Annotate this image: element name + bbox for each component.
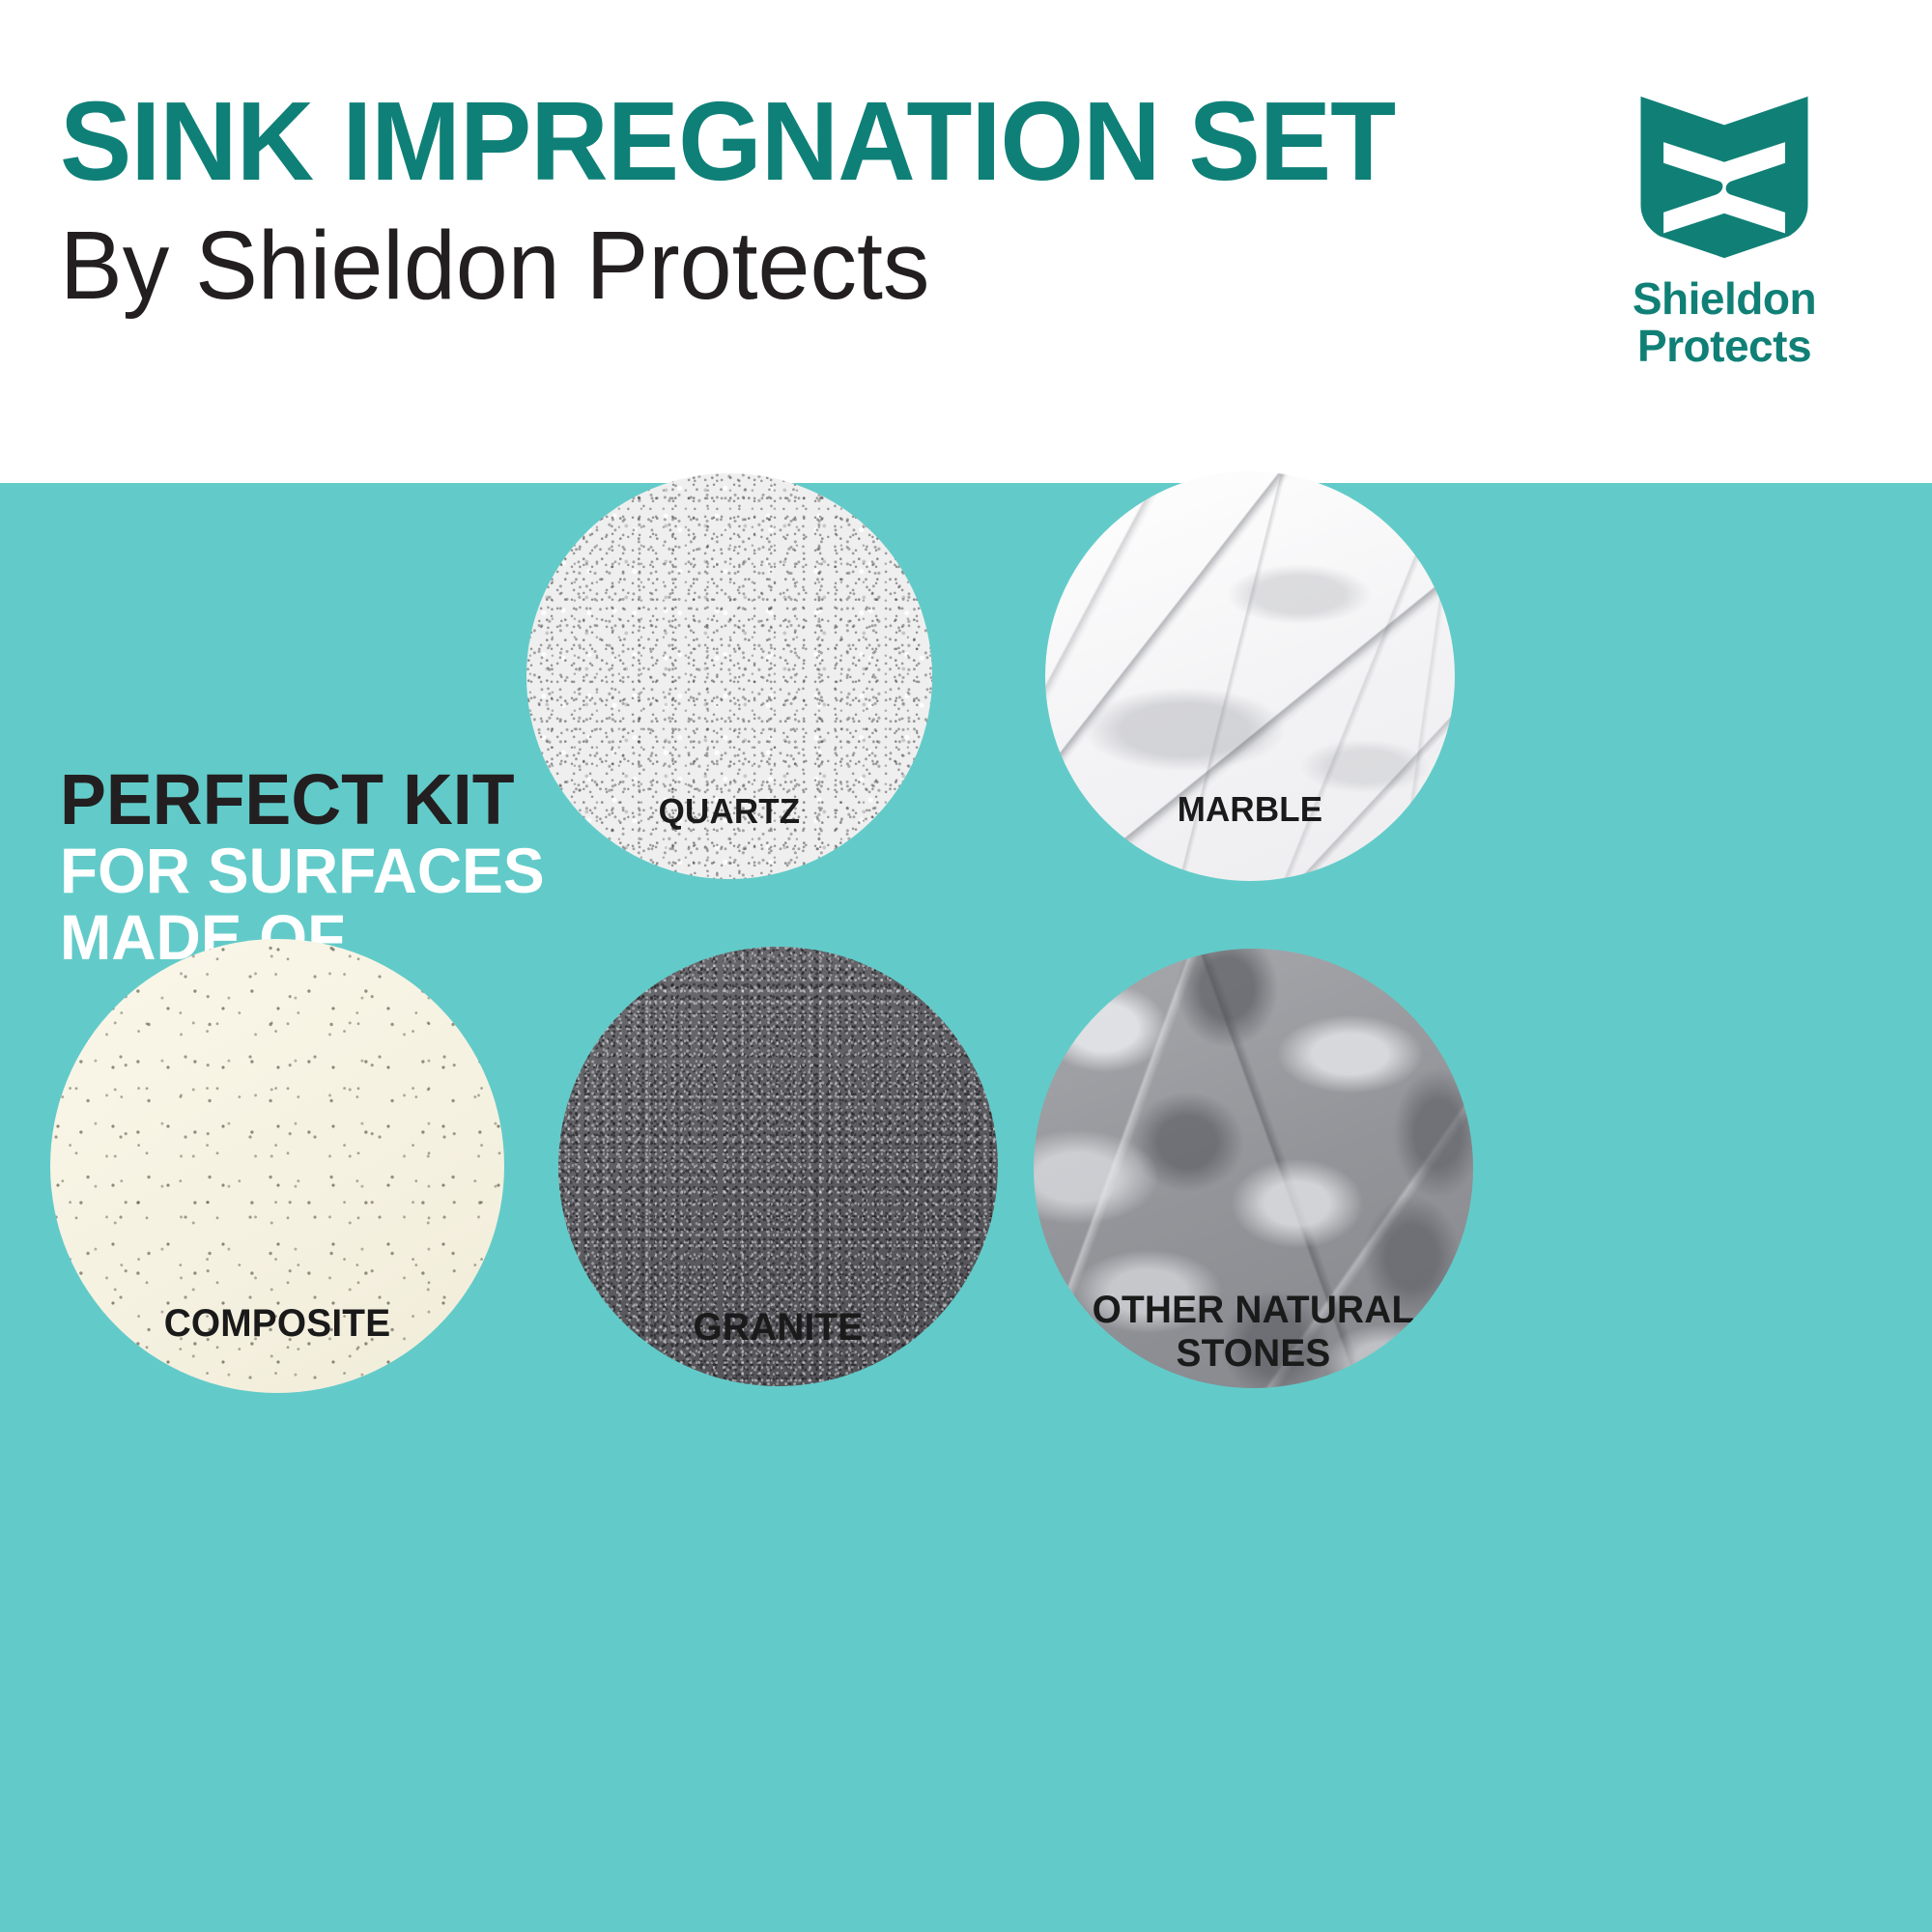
- surface-label-quartz: QUARTZ: [532, 792, 925, 831]
- surface-swatch-marble: MARBLE: [1045, 471, 1455, 881]
- surface-label-other-natural-stones: OTHER NATURALSTONES: [1040, 1289, 1466, 1376]
- page-title: SINK IMPREGNATION SET: [60, 85, 1451, 197]
- surface-swatch-quartz: QUARTZ: [526, 473, 932, 879]
- surface-label-marble: MARBLE: [1051, 790, 1448, 829]
- title-block: SINK IMPREGNATION SET By Shieldon Protec…: [60, 85, 1509, 322]
- brand-logo-text: Shieldon Protects: [1575, 275, 1874, 370]
- brand-logo: Shieldon Protects: [1575, 93, 1874, 370]
- surface-label-composite: COMPOSITE: [57, 1302, 497, 1346]
- surface-swatch-granite: GRANITE: [558, 947, 998, 1386]
- poster-body: PERFECT KIT FOR SURFACES MADE OF QUARTZ …: [0, 483, 1932, 1932]
- product-infographic-poster: SINK IMPREGNATION SET By Shieldon Protec…: [0, 0, 1932, 1932]
- poster-header: SINK IMPREGNATION SET By Shieldon Protec…: [0, 0, 1932, 483]
- brand-name-line-1: Shieldon: [1575, 275, 1874, 323]
- brand-name-line-2: Protects: [1575, 323, 1874, 370]
- shield-s-logo-icon: [1628, 93, 1821, 262]
- surface-label-granite: GRANITE: [565, 1306, 991, 1350]
- page-subtitle: By Shieldon Protects: [60, 211, 1465, 322]
- surface-swatch-other-natural-stones: OTHER NATURALSTONES: [1034, 949, 1473, 1388]
- headline-line-2: FOR SURFACES: [60, 838, 660, 904]
- surface-swatch-composite: COMPOSITE: [50, 939, 504, 1393]
